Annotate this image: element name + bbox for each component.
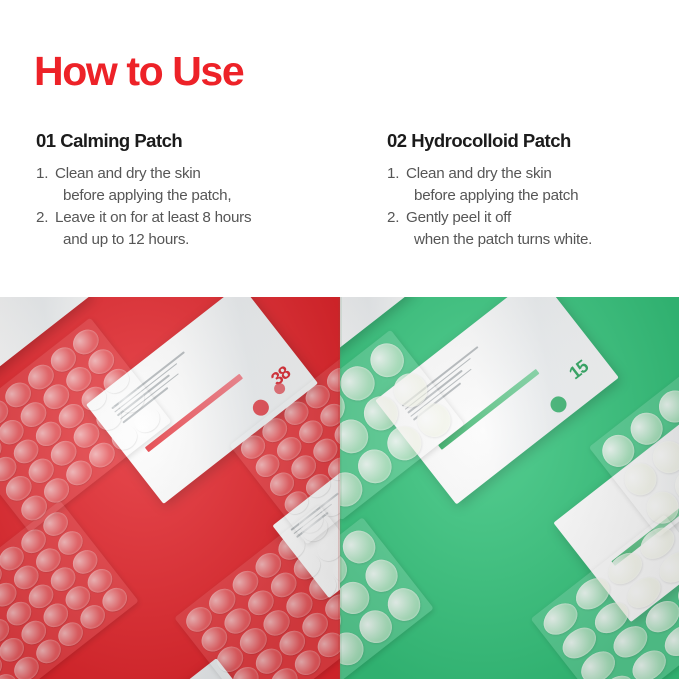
product-photo: Before Care 38	[0, 297, 679, 679]
photo-half-hydrocolloid-green: After Care 15 After Care 15	[340, 297, 679, 679]
column-hydrocolloid-patch: 02 Hydrocolloid Patch 1. Clean and dry t…	[387, 130, 677, 251]
seal-badge-icon: Before Care	[6, 297, 62, 304]
photo-half-calming-red: Before Care 38	[0, 297, 340, 679]
step-item: 1. Clean and dry the skin before applyin…	[387, 163, 677, 206]
patch-sheet-left	[0, 318, 172, 533]
page-title: How to Use	[34, 50, 243, 93]
step-line: Leave it on for at least 8 hours	[55, 207, 366, 229]
step-item: 2. Leave it on for at least 8 hours and …	[36, 207, 366, 250]
column-heading-01: 01 Calming Patch	[36, 130, 366, 152]
step-line: Clean and dry the skin	[406, 163, 677, 185]
photo-half-divider	[338, 297, 342, 679]
step-text: Leave it on for at least 8 hours and up …	[55, 207, 366, 250]
patch-sheet-lower-left	[340, 517, 434, 679]
step-item: 2. Gently peel it off when the patch tur…	[387, 207, 677, 250]
step-line: before applying the patch,	[55, 185, 366, 207]
packet-dot	[547, 393, 569, 415]
step-number: 2.	[387, 207, 406, 250]
patch-sheet-lower-left	[0, 500, 139, 679]
step-text: Clean and dry the skin before applying t…	[55, 163, 366, 206]
step-line: Gently peel it off	[406, 207, 677, 229]
step-line: before applying the patch	[406, 185, 677, 207]
step-line: Clean and dry the skin	[55, 163, 366, 185]
step-text: Gently peel it off when the patch turns …	[406, 207, 677, 250]
column-heading-02: 02 Hydrocolloid Patch	[387, 130, 677, 152]
steps-list-01: 1. Clean and dry the skin before applyin…	[36, 163, 366, 250]
packet-count: 15	[565, 356, 592, 384]
step-number: 1.	[36, 163, 55, 206]
steps-list-02: 1. Clean and dry the skin before applyin…	[387, 163, 677, 250]
step-number: 2.	[36, 207, 55, 250]
instructions-section: How to Use 01 Calming Patch 1. Clean and…	[0, 0, 679, 297]
patch-sheet-lower-right	[174, 505, 340, 679]
step-item: 1. Clean and dry the skin before applyin…	[36, 163, 366, 206]
step-number: 1.	[387, 163, 406, 206]
step-line: when the patch turns white.	[406, 229, 677, 251]
column-calming-patch: 01 Calming Patch 1. Clean and dry the sk…	[36, 130, 366, 251]
step-text: Clean and dry the skin before applying t…	[406, 163, 677, 206]
how-to-use-page: How to Use 01 Calming Patch 1. Clean and…	[0, 0, 679, 679]
step-line: and up to 12 hours.	[55, 229, 366, 251]
